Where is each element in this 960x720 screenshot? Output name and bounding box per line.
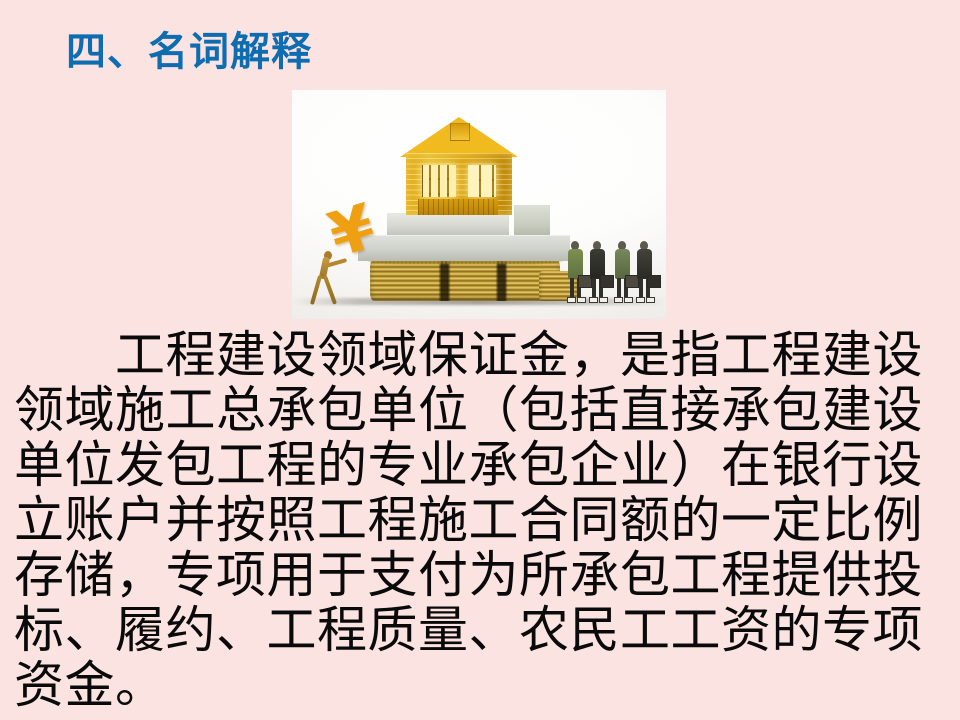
window-right bbox=[468, 165, 496, 197]
window-left bbox=[422, 165, 456, 197]
platform-slab-upper bbox=[387, 213, 509, 235]
business-person bbox=[566, 241, 585, 303]
presentation-slide: 四、名词解释 ¥ bbox=[0, 0, 960, 720]
figure-leg-front bbox=[323, 275, 337, 305]
person-shoe-left bbox=[614, 297, 623, 303]
person-shoe-right bbox=[577, 297, 586, 303]
illustration-photo: ¥ bbox=[292, 90, 666, 319]
business-person bbox=[635, 241, 654, 303]
person-shoe-right bbox=[646, 297, 655, 303]
gable-vent bbox=[450, 123, 470, 141]
briefcase-icon bbox=[647, 275, 661, 288]
figure-leg-back bbox=[310, 275, 322, 305]
door-band bbox=[418, 199, 498, 215]
figure-pushing-currency bbox=[308, 243, 342, 305]
person-shoe-left bbox=[636, 297, 645, 303]
page-title: 四、名词解释 bbox=[66, 30, 312, 74]
platform-slab-right bbox=[514, 205, 550, 235]
business-person bbox=[588, 241, 607, 303]
person-shoe-left bbox=[567, 297, 576, 303]
business-person bbox=[613, 241, 632, 303]
business-people-group bbox=[566, 237, 658, 303]
platform-slab-base bbox=[358, 235, 570, 261]
house-body bbox=[406, 153, 512, 215]
briefcase-icon bbox=[600, 275, 614, 288]
person-shoe-right bbox=[599, 297, 608, 303]
body-paragraph: 工程建设领域保证金，是指工程建设领域施工总承包单位（包括直接承包建设单位发包工程… bbox=[14, 328, 946, 713]
wooden-house-icon bbox=[400, 117, 518, 215]
coin-stack-large bbox=[370, 259, 560, 301]
person-shoe-left bbox=[589, 297, 598, 303]
person-shoe-right bbox=[624, 297, 633, 303]
